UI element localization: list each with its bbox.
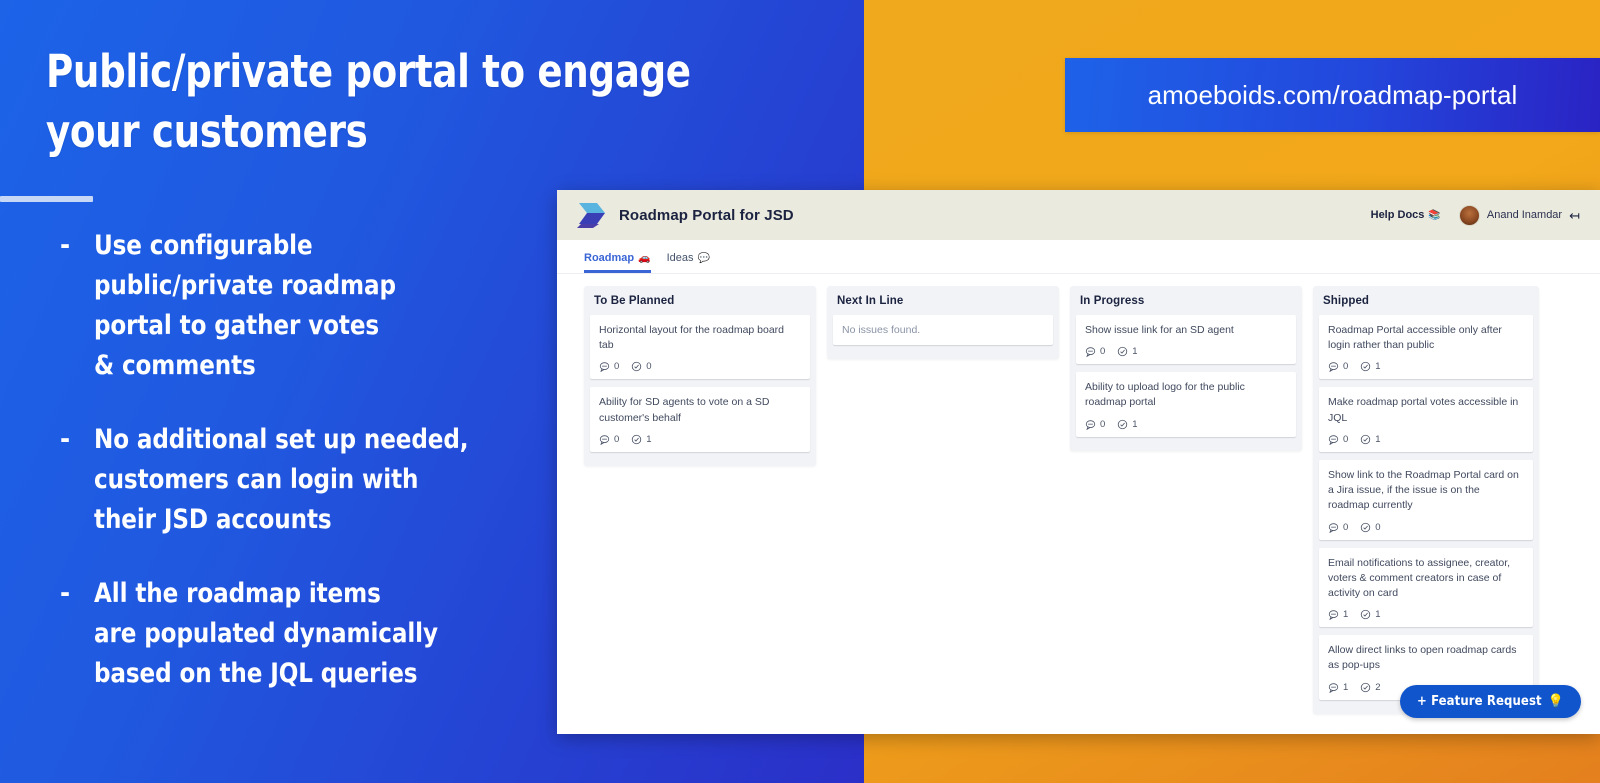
column-cards: No issues found.: [827, 315, 1059, 345]
list-item: - Use configurable public/private roadma…: [60, 226, 560, 386]
page-title: Public/private portal to engage your cus…: [46, 42, 764, 162]
tab-bar: Roadmap 🚗 Ideas 💬: [557, 240, 1600, 274]
speech-balloon-icon: 💬: [698, 253, 710, 264]
column-title: Next In Line: [827, 286, 1059, 315]
roadmap-card[interactable]: Ability to upload logo for the public ro…: [1076, 372, 1296, 436]
logout-icon[interactable]: ↤: [1569, 209, 1580, 222]
vote-check-icon: [631, 361, 642, 372]
car-icon: 🚗: [638, 253, 650, 264]
roadmap-card[interactable]: Show link to the Roadmap Portal card on …: [1319, 460, 1533, 540]
bullet-text: All the roadmap items are populated dyna…: [94, 574, 438, 694]
vote-count: 1: [1360, 609, 1380, 620]
comment-count: 0: [1328, 434, 1348, 445]
board-column-to-be-planned: To Be Planned Horizontal layout for the …: [584, 286, 816, 466]
user-name: Anand Inamdar: [1487, 209, 1562, 221]
app-header: Roadmap Portal for JSD Help Docs 📚 Anand…: [557, 190, 1600, 240]
roadmap-card[interactable]: Horizontal layout for the roadmap board …: [590, 315, 810, 379]
comment-count-value: 0: [614, 361, 619, 372]
card-meta: 0 1: [1085, 419, 1287, 430]
vote-count: 1: [1360, 434, 1380, 445]
list-item: - All the roadmap items are populated dy…: [60, 574, 560, 694]
vote-count-value: 0: [646, 361, 651, 372]
card-meta: 1 1: [1328, 609, 1524, 620]
comment-count: 0: [599, 434, 619, 445]
card-title: Ability for SD agents to vote on a SD cu…: [599, 395, 801, 425]
card-meta: 0 1: [1328, 434, 1524, 445]
column-cards: Horizontal layout for the roadmap board …: [584, 315, 816, 452]
vote-check-icon: [631, 434, 642, 445]
vote-count: 1: [1360, 361, 1380, 372]
card-meta: 0 1: [599, 434, 801, 445]
card-title: Ability to upload logo for the public ro…: [1085, 380, 1287, 410]
lightbulb-icon: 💡: [1548, 694, 1564, 709]
card-title: Show link to the Roadmap Portal card on …: [1328, 468, 1524, 514]
bullet-text: No additional set up needed, customers c…: [94, 420, 468, 540]
card-title: Horizontal layout for the roadmap board …: [599, 323, 801, 353]
comment-icon: [1328, 609, 1339, 620]
bullet-dash: -: [60, 574, 94, 694]
card-title: Show issue link for an SD agent: [1085, 323, 1287, 338]
vote-check-icon: [1117, 346, 1128, 357]
card-meta: 0 1: [1328, 361, 1524, 372]
comment-count: 0: [1085, 419, 1105, 430]
bullet-list: - Use configurable public/private roadma…: [60, 226, 560, 728]
vote-check-icon: [1360, 682, 1371, 693]
comment-count: 0: [1085, 346, 1105, 357]
vote-check-icon: [1360, 609, 1371, 620]
help-docs-label: Help Docs: [1371, 209, 1425, 221]
vote-count: 1: [1117, 346, 1137, 357]
roadmap-board: To Be Planned Horizontal layout for the …: [557, 274, 1600, 714]
roadmap-card[interactable]: Email notifications to assignee, creator…: [1319, 548, 1533, 628]
roadmap-card[interactable]: Roadmap Portal accessible only after log…: [1319, 315, 1533, 379]
card-title: Make roadmap portal votes accessible in …: [1328, 395, 1524, 425]
column-title: In Progress: [1070, 286, 1302, 315]
card-meta: 0 1: [1085, 346, 1287, 357]
comment-icon: [1328, 682, 1339, 693]
bullet-dash: -: [60, 420, 94, 540]
slide-canvas: Public/private portal to engage your cus…: [0, 0, 1600, 783]
roadmap-card[interactable]: Show issue link for an SD agent 0 1: [1076, 315, 1296, 364]
vote-check-icon: [1360, 522, 1371, 533]
card-title: Roadmap Portal accessible only after log…: [1328, 323, 1524, 353]
board-column-next-in-line: Next In Line No issues found.: [827, 286, 1059, 359]
title-divider: [0, 196, 93, 202]
comment-count: 1: [1328, 609, 1348, 620]
comment-icon: [1328, 522, 1339, 533]
vote-count: 2: [1360, 682, 1380, 693]
comment-count: 1: [1328, 682, 1348, 693]
comment-count: 0: [599, 361, 619, 372]
books-icon: 📚: [1428, 210, 1440, 221]
column-cards: Show issue link for an SD agent 0 1: [1070, 315, 1302, 437]
card-title: Email notifications to assignee, creator…: [1328, 556, 1524, 602]
tab-ideas-label: Ideas: [667, 252, 694, 264]
vote-count: 0: [1360, 522, 1380, 533]
vote-count-value: 1: [1375, 361, 1380, 372]
comment-icon: [599, 434, 610, 445]
comment-count-value: 0: [1343, 434, 1348, 445]
header-actions: Help Docs 📚 Anand Inamdar ↤: [1371, 205, 1580, 226]
app-title: Roadmap Portal for JSD: [619, 207, 794, 224]
feature-request-label: + Feature Request: [1417, 694, 1542, 709]
vote-count: 0: [631, 361, 651, 372]
comment-count-value: 1: [1343, 682, 1348, 693]
column-cards[interactable]: Roadmap Portal accessible only after log…: [1313, 315, 1539, 700]
comment-icon: [1085, 346, 1096, 357]
vote-count-value: 0: [1375, 522, 1380, 533]
vote-count: 1: [1117, 419, 1137, 430]
comment-icon: [599, 361, 610, 372]
comment-icon: [1085, 419, 1096, 430]
bullet-text: Use configurable public/private roadmap …: [94, 226, 396, 386]
empty-state-message: No issues found.: [833, 315, 1053, 345]
help-docs-link[interactable]: Help Docs 📚: [1371, 209, 1441, 221]
vote-count-value: 1: [1132, 346, 1137, 357]
list-item: - No additional set up needed, customers…: [60, 420, 560, 540]
vote-count-value: 1: [1132, 419, 1137, 430]
tab-roadmap-label: Roadmap: [584, 252, 634, 264]
vote-count-value: 1: [1375, 434, 1380, 445]
tab-ideas[interactable]: Ideas 💬: [667, 252, 710, 273]
vote-check-icon: [1117, 419, 1128, 430]
url-badge: amoeboids.com/roadmap-portal: [1065, 58, 1600, 132]
comment-count-value: 1: [1343, 609, 1348, 620]
comment-icon: [1328, 434, 1339, 445]
board-column-in-progress: In Progress Show issue link for an SD ag…: [1070, 286, 1302, 451]
app-window: Roadmap Portal for JSD Help Docs 📚 Anand…: [557, 190, 1600, 734]
roadmap-card[interactable]: Ability for SD agents to vote on a SD cu…: [590, 387, 810, 451]
vote-count-value: 1: [1375, 609, 1380, 620]
arrow-chevron-logo-icon: [575, 200, 609, 230]
card-title: Allow direct links to open roadmap cards…: [1328, 643, 1524, 673]
comment-count-value: 0: [1343, 361, 1348, 372]
vote-count-value: 2: [1375, 682, 1380, 693]
roadmap-card[interactable]: Make roadmap portal votes accessible in …: [1319, 387, 1533, 451]
board-column-shipped: Shipped Roadmap Portal accessible only a…: [1313, 286, 1539, 714]
user-menu[interactable]: Anand Inamdar ↤: [1459, 205, 1580, 226]
comment-count: 0: [1328, 522, 1348, 533]
tab-roadmap[interactable]: Roadmap 🚗: [584, 252, 651, 273]
card-meta: 0 0: [1328, 522, 1524, 533]
bullet-dash: -: [60, 226, 94, 386]
comment-icon: [1328, 361, 1339, 372]
comment-count-value: 0: [1343, 522, 1348, 533]
vote-check-icon: [1360, 434, 1371, 445]
comment-count-value: 0: [1100, 346, 1105, 357]
avatar: [1459, 205, 1480, 226]
comment-count-value: 0: [614, 434, 619, 445]
comment-count: 0: [1328, 361, 1348, 372]
vote-count: 1: [631, 434, 651, 445]
comment-count-value: 0: [1100, 419, 1105, 430]
vote-count-value: 1: [646, 434, 651, 445]
feature-request-button[interactable]: + Feature Request 💡: [1400, 685, 1581, 718]
column-title: To Be Planned: [584, 286, 816, 315]
column-title: Shipped: [1313, 286, 1539, 315]
card-meta: 0 0: [599, 361, 801, 372]
vote-check-icon: [1360, 361, 1371, 372]
